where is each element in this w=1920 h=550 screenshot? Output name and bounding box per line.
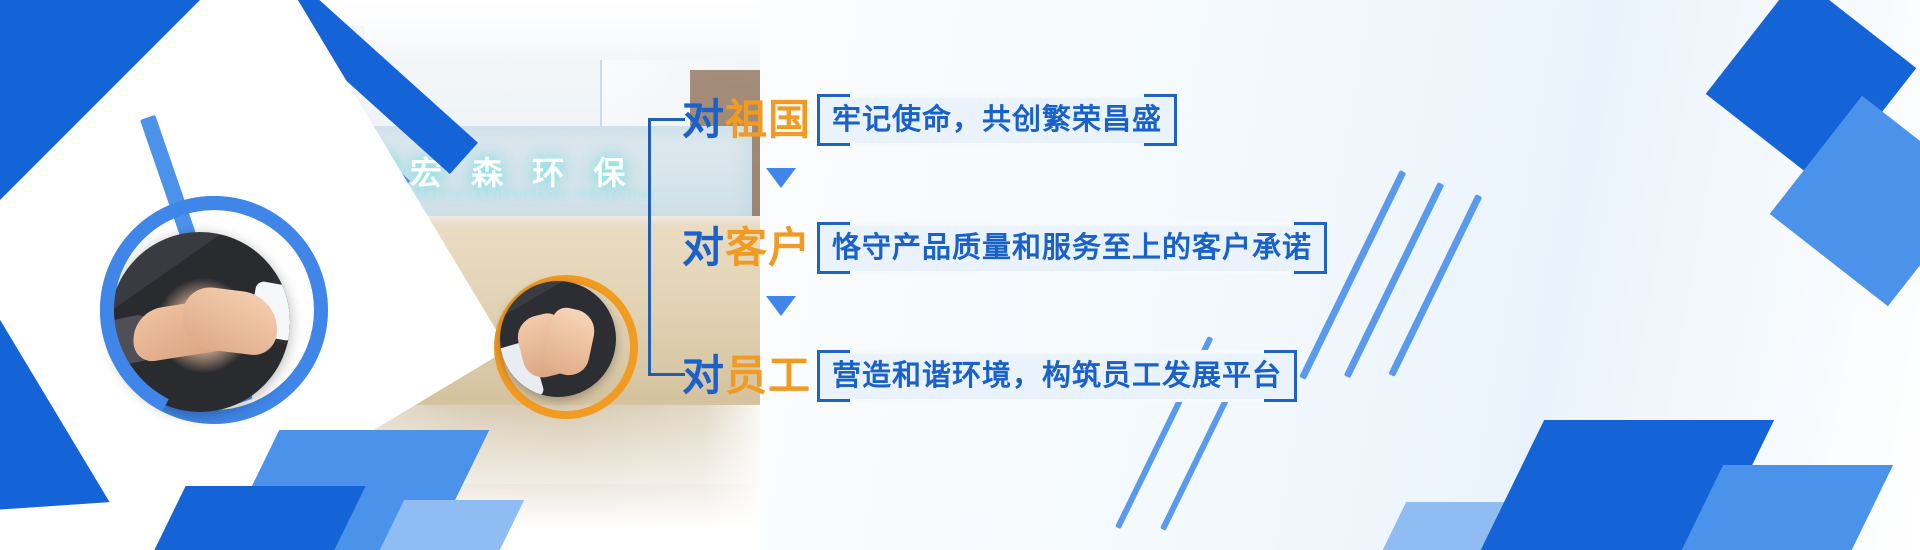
office-shelf xyxy=(170,252,216,270)
photo-fade-bottom xyxy=(0,400,760,550)
value-label-keyword: 客户 xyxy=(725,223,811,272)
deco-line-right xyxy=(1388,194,1482,377)
photo-fade-top xyxy=(0,0,760,60)
value-label-customer: 对客户 xyxy=(682,227,811,269)
value-quote-customer: 恪守产品质量和服务至上的客户承诺 xyxy=(817,222,1327,274)
value-label-keyword: 祖国 xyxy=(725,95,811,144)
deco-bar-bottom-right-light xyxy=(1378,502,1556,550)
value-row-employee: 对员工 营造和谐环境，构筑员工发展平台 xyxy=(682,348,1297,404)
office-shelf xyxy=(192,198,256,232)
value-row-country: 对祖国 牢记使命，共创繁荣昌盛 xyxy=(682,92,1177,148)
triangle-down-icon xyxy=(766,296,796,316)
value-label-prefix: 对 xyxy=(682,351,725,400)
value-label-employee: 对员工 xyxy=(682,355,811,397)
company-sign-subtitle: HONGSEN ENVIRONMENTAL PROTECTION xyxy=(410,190,653,199)
value-label-prefix: 对 xyxy=(682,223,725,272)
value-label-keyword: 员工 xyxy=(725,351,811,400)
value-row-customer: 对客户 恪守产品质量和服务至上的客户承诺 xyxy=(682,220,1327,276)
deco-square-top-right-mid xyxy=(1770,96,1920,307)
office-reception-photo: 宏 森 环 保 HONGSEN ENVIRONMENTAL PROTECTION xyxy=(0,0,760,550)
value-label-prefix: 对 xyxy=(682,95,725,144)
corporate-values-banner: 宏 森 环 保 HONGSEN ENVIRONMENTAL PROTECTION xyxy=(0,0,1920,550)
brace-bracket xyxy=(648,118,685,376)
value-label-country: 对祖国 xyxy=(682,99,811,141)
company-sign-name: 宏 森 环 保 xyxy=(410,148,634,194)
value-quote-employee: 营造和谐环境，构筑员工发展平台 xyxy=(817,350,1297,402)
triangle-down-icon xyxy=(766,168,796,188)
deco-bar-bottom-right-mid xyxy=(1677,465,1893,550)
deco-square-top-right-dark xyxy=(1706,0,1917,186)
value-quote-country: 牢记使命，共创繁荣昌盛 xyxy=(817,94,1177,146)
deco-bar-bottom-right-dark xyxy=(1476,420,1774,550)
values-list: 对祖国 牢记使命，共创繁荣昌盛 对客户 恪守产品质量和服务至上的客户承诺 对员工… xyxy=(648,74,1368,404)
office-shelf xyxy=(150,228,202,252)
company-logo-icon xyxy=(352,150,398,196)
